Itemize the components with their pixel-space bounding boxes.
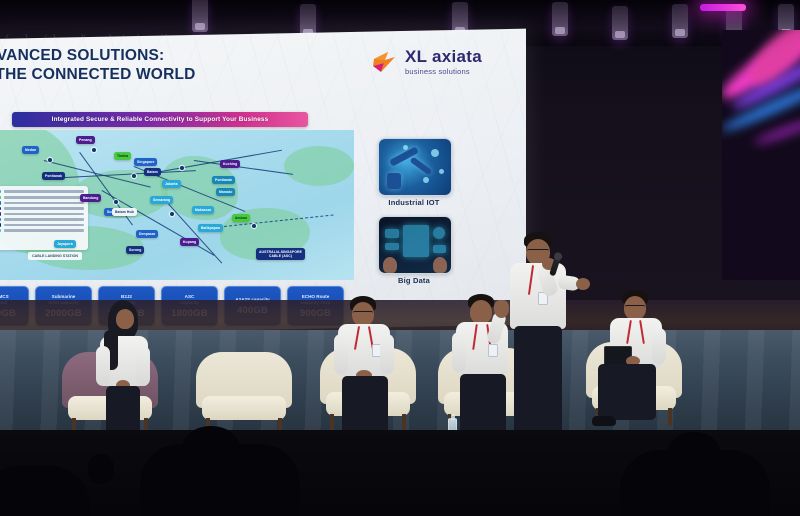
- glasses-icon: [527, 249, 549, 253]
- stage-light-fixture: [612, 6, 628, 40]
- purple-led-bar: [700, 4, 746, 11]
- arm: [136, 346, 150, 386]
- dashboard-panel: [385, 243, 399, 250]
- map-node-chip: Jayapura: [54, 240, 76, 248]
- stage-light-fixture: [552, 2, 568, 36]
- cable-node: [132, 174, 136, 178]
- robotic-arm-icon: [387, 173, 401, 189]
- map-node-chip: Makassar: [192, 206, 214, 214]
- map-cable-caption: AUSTRALIA-SINGAPORE CABLE (ASC): [256, 248, 305, 260]
- audience-foreground: [0, 430, 800, 516]
- iot-node-dot: [403, 145, 408, 150]
- arm: [96, 346, 110, 386]
- presentation-screen: ACH & ADVANCED SOLUTIONS: EWAY TO THE CO…: [0, 29, 526, 336]
- stage-light-fixture: [192, 0, 208, 32]
- iot-node-dot: [439, 169, 444, 174]
- legend-label: [4, 196, 84, 199]
- map-node-chip: Medan: [22, 146, 39, 154]
- legend-label: [4, 224, 84, 227]
- arm: [334, 334, 348, 374]
- dashboard-panel: [433, 227, 445, 239]
- map-node-chip: Semarang: [150, 196, 173, 204]
- conference-stage-photo: ACH & ADVANCED SOLUTIONS: EWAY TO THE CO…: [0, 0, 800, 516]
- dashboard-panel: [433, 245, 446, 253]
- axiata-arrow-icon: [371, 48, 399, 76]
- map-node-chip: Sorong: [126, 246, 144, 254]
- map-node-chip: Pontianak: [42, 172, 65, 180]
- shoe: [592, 416, 616, 426]
- cable-node: [114, 200, 118, 204]
- side-led-panel: [722, 30, 800, 280]
- legs: [598, 364, 656, 420]
- arm: [652, 328, 666, 364]
- iot-node-dot: [423, 177, 429, 183]
- map-node-chip: Manado: [216, 188, 235, 196]
- map-node-chip: Timika: [114, 152, 131, 160]
- legend-label: [4, 229, 84, 232]
- arm: [452, 332, 466, 372]
- map-node-chip: Kuching: [220, 160, 240, 168]
- map-node-chip: Kupang: [180, 238, 199, 246]
- legend-swatch: [0, 207, 1, 210]
- audience-head-silhouette: [182, 426, 240, 470]
- map-node-chip: Batam: [144, 168, 161, 176]
- legend-label: [4, 207, 84, 210]
- map-node-chip: Ambon: [232, 214, 250, 222]
- cable-node: [180, 166, 184, 170]
- cable-node: [48, 158, 52, 162]
- legend-swatch: [0, 196, 1, 199]
- map-node-chip: Singapore: [134, 158, 157, 166]
- cable-node: [170, 212, 174, 216]
- audience-head-silhouette: [668, 432, 720, 472]
- map-node-chip: Batam Hub: [112, 208, 137, 216]
- legend-label: [4, 190, 84, 193]
- badge: [488, 344, 498, 357]
- map-node-chip: Pontianak: [212, 176, 235, 184]
- legs: [514, 326, 562, 446]
- glasses-icon: [625, 305, 645, 309]
- map-node-chip: Penang: [76, 136, 95, 144]
- landmass: [284, 146, 354, 186]
- brand-tagline: business solutions: [405, 68, 482, 76]
- legend-label: [4, 218, 84, 221]
- hand-silhouette: [383, 257, 397, 273]
- dashboard-panel: [403, 225, 429, 257]
- legend-swatch: [0, 212, 1, 215]
- head: [116, 309, 134, 329]
- slide-title: ACH & ADVANCED SOLUTIONS: EWAY TO THE CO…: [0, 46, 310, 84]
- iot-node-dot: [431, 149, 439, 157]
- legs: [342, 376, 388, 438]
- audience-silhouette: [0, 466, 90, 516]
- legend-label: [4, 213, 84, 216]
- industrial-iot-caption: Industrial IOT: [378, 198, 450, 207]
- legend-label: [4, 202, 84, 205]
- submarine-cable-map: Medan Penang Pontianak Singapore Batam K…: [0, 130, 354, 280]
- legend-swatch: [0, 190, 1, 193]
- industrial-iot-thumbnail: [378, 138, 452, 196]
- cable-node: [92, 148, 96, 152]
- big-data-thumbnail: [378, 216, 452, 274]
- legend-swatch: [0, 229, 1, 232]
- legend-swatch: [0, 218, 1, 221]
- map-node-chip: Bandung: [80, 194, 101, 202]
- slide-banner: Integrated Secure & Reliable Connectivit…: [12, 112, 308, 127]
- map-node-chip: Denpasar: [136, 230, 158, 238]
- chair-empty: [196, 352, 292, 436]
- hand: [576, 278, 590, 290]
- brand-name: XL axiata: [405, 48, 482, 65]
- glasses-icon: [353, 311, 373, 315]
- cable-node: [252, 224, 256, 228]
- audience-head-silhouette: [88, 454, 114, 484]
- hand-gesturing: [494, 300, 509, 318]
- legend-swatch: [0, 223, 1, 226]
- dashboard-panel: [385, 229, 399, 238]
- head: [470, 300, 492, 324]
- xl-axiata-logo: XL axiata business solutions: [371, 48, 482, 76]
- legend-swatch: [0, 201, 1, 204]
- slide-banner-text: Integrated Secure & Reliable Connectivit…: [52, 116, 269, 123]
- hand-silhouette: [433, 257, 447, 273]
- map-node-chip: Jakarta: [162, 180, 181, 188]
- map-landing-caption: CABLE LANDING STATION: [28, 252, 82, 260]
- big-data-caption: Big Data: [378, 276, 450, 285]
- map-node-chip: Balikpapan: [198, 224, 223, 232]
- arm: [380, 334, 394, 374]
- legs: [460, 374, 506, 436]
- stage-light-fixture: [672, 4, 688, 38]
